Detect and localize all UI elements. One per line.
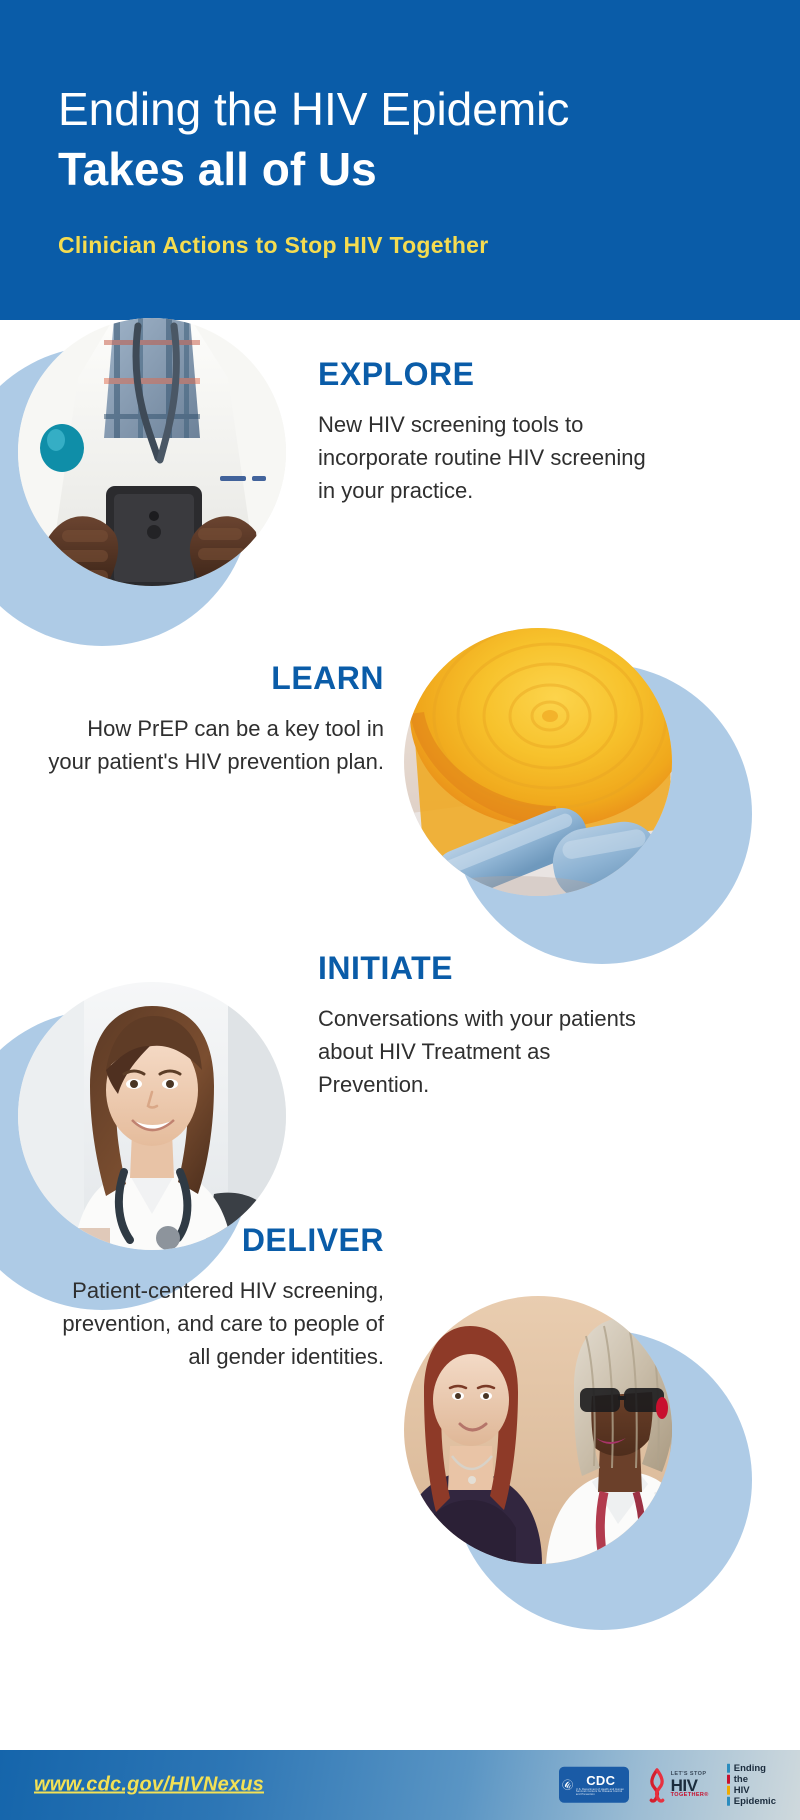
ending-the-hiv-epidemic-logo: Ending the HIV Epidemic <box>727 1764 776 1807</box>
section-body-deliver: Patient-centered HIV screening, preventi… <box>44 1274 384 1373</box>
ehe-row-text: Epidemic <box>734 1797 776 1807</box>
ehe-row: Epidemic <box>727 1797 776 1807</box>
cdc-hivnexus-link[interactable]: www.cdc.gov/HIVNexus <box>34 1774 264 1797</box>
header-banner: Ending the HIV Epidemic Takes all of Us … <box>0 0 800 320</box>
ehe-row-text: Ending <box>734 1764 766 1774</box>
cdc-wordmark-subtext: U.S. Department of Health and Human Serv… <box>576 1788 626 1796</box>
cdc-logo: CDC U.S. Department of Health and Human … <box>559 1767 629 1803</box>
ehe-row: HIV <box>727 1786 776 1796</box>
red-aids-ribbon-icon <box>647 1767 667 1803</box>
page-title-line-2: Takes all of Us <box>58 145 377 193</box>
cdc-wordmark: CDC U.S. Department of Health and Human … <box>576 1774 626 1796</box>
section-kicker-learn: LEARN <box>44 662 384 696</box>
section-learn: LEARN How PrEP can be a key tool in your… <box>44 662 384 778</box>
prescription-bottle-with-blue-pills-photo <box>404 628 672 896</box>
lsht-line-3: TOGETHER® <box>671 1793 709 1799</box>
ehe-row: Ending <box>727 1764 776 1774</box>
section-body-learn: How PrEP can be a key tool in your patie… <box>44 712 384 778</box>
section-kicker-deliver: DELIVER <box>44 1224 384 1258</box>
cdc-wordmark-text: CDC <box>586 1774 615 1787</box>
ehe-row-text: the <box>734 1775 748 1785</box>
lets-stop-hiv-together-wordmark: LET'S STOP HIV TOGETHER® <box>671 1772 709 1798</box>
ehe-bar-icon <box>727 1797 730 1806</box>
page-subtitle: Clinician Actions to Stop HIV Together <box>58 232 489 259</box>
lets-stop-hiv-together-logo: LET'S STOP HIV TOGETHER® <box>647 1767 709 1803</box>
footer-bar: www.cdc.gov/HIVNexus CDC U.S. Department… <box>0 1750 800 1820</box>
section-explore: EXPLORE New HIV screening tools to incor… <box>318 358 648 507</box>
infographic-page: Ending the HIV Epidemic Takes all of Us … <box>0 0 800 1820</box>
ehe-bar-icon <box>727 1786 730 1795</box>
smiling-female-clinician-photo <box>18 982 286 1250</box>
section-body-explore: New HIV screening tools to incorporate r… <box>318 408 648 507</box>
section-body-initiate: Conversations with your patients about H… <box>318 1002 658 1101</box>
section-kicker-explore: EXPLORE <box>318 358 648 392</box>
hhs-seal-icon <box>562 1772 573 1798</box>
ehe-bar-icon <box>727 1764 730 1773</box>
section-kicker-initiate: INITIATE <box>318 952 658 986</box>
ehe-row: the <box>727 1775 776 1785</box>
clinician-with-smartphone-photo <box>18 318 286 586</box>
ehe-bar-icon <box>727 1775 730 1784</box>
page-title-line-1: Ending the HIV Epidemic <box>58 85 569 133</box>
clinician-with-patient-photo <box>404 1296 672 1564</box>
footer-logo-group: CDC U.S. Department of Health and Human … <box>559 1764 776 1807</box>
ehe-row-text: HIV <box>734 1786 750 1796</box>
section-deliver: DELIVER Patient-centered HIV screening, … <box>44 1224 384 1373</box>
section-initiate: INITIATE Conversations with your patient… <box>318 952 658 1101</box>
